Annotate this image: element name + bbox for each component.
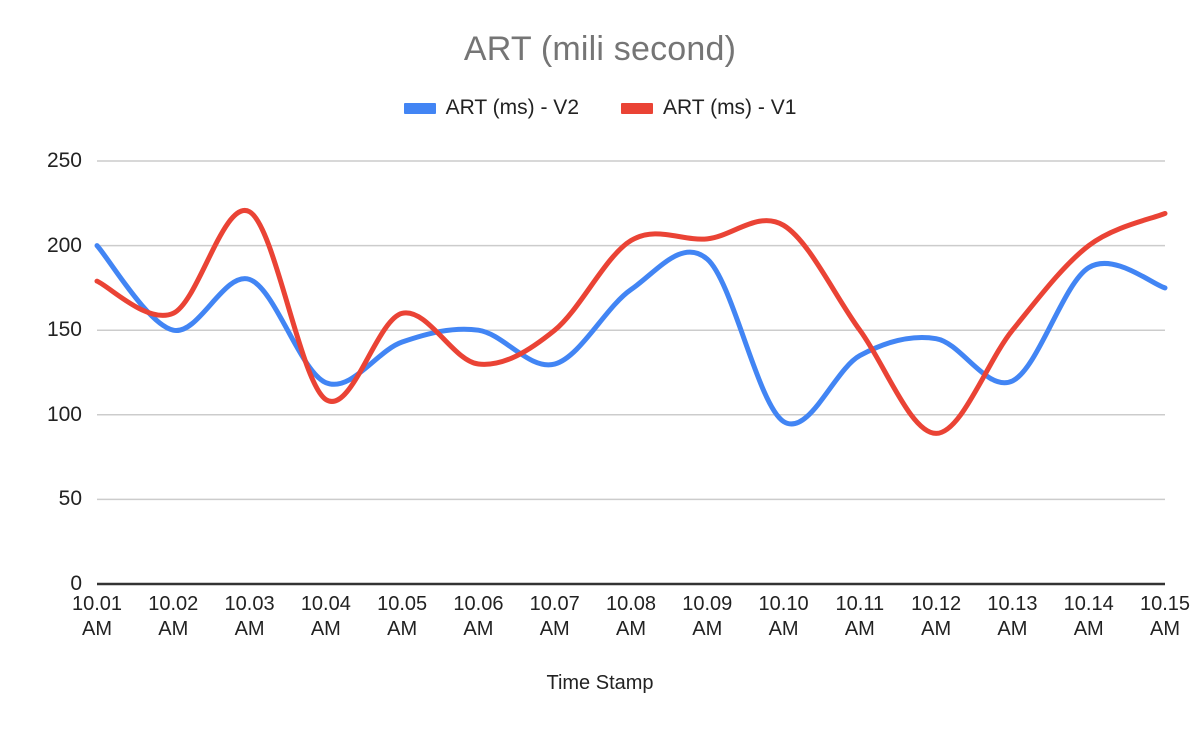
- chart-title: ART (mili second): [0, 30, 1200, 69]
- chart-container: ART (mili second) ART (ms) - V2ART (ms) …: [0, 0, 1200, 742]
- series-line-1[interactable]: [97, 246, 1165, 424]
- x-axis-tick-time: 10.09: [682, 593, 732, 615]
- chart-legend: ART (ms) - V2ART (ms) - V1: [0, 96, 1200, 120]
- x-axis-tick-time: 10.10: [759, 593, 809, 615]
- y-axis-tick-label: 250: [20, 149, 82, 173]
- y-axis-tick-label: 200: [20, 234, 82, 258]
- x-axis-tick-time: 10.03: [225, 593, 275, 615]
- legend-swatch-icon: [621, 103, 653, 114]
- legend-item-label: ART (ms) - V1: [663, 96, 796, 120]
- x-axis-tick-time: 10.14: [1064, 593, 1114, 615]
- x-axis-tick-time: 10.08: [606, 593, 656, 615]
- legend-item-1[interactable]: ART (ms) - V2: [404, 96, 579, 120]
- series-line-2[interactable]: [97, 210, 1165, 433]
- x-axis-tick-time: 10.02: [148, 593, 198, 615]
- y-axis-tick-label: 50: [20, 487, 82, 511]
- x-axis-tick-time: 10.04: [301, 593, 351, 615]
- x-axis-tick-time: 10.11: [836, 593, 885, 615]
- legend-item-label: ART (ms) - V2: [446, 96, 579, 120]
- plot-area: [97, 161, 1165, 584]
- x-axis-tick-time: 10.12: [911, 593, 961, 615]
- y-axis-tick-label: 150: [20, 318, 82, 342]
- legend-item-2[interactable]: ART (ms) - V1: [621, 96, 796, 120]
- x-axis-tick-meridiem: AM: [1110, 617, 1200, 642]
- x-axis-tick-time: 10.13: [987, 593, 1037, 615]
- x-axis-tick-time: 10.06: [453, 593, 503, 615]
- x-axis-tick-time: 10.05: [377, 593, 427, 615]
- x-axis-tick-time: 10.15: [1140, 593, 1190, 615]
- y-axis-tick-label: 100: [20, 403, 82, 427]
- legend-swatch-icon: [404, 103, 436, 114]
- x-axis-tick-time: 10.01: [72, 593, 122, 615]
- x-axis: 10.01AM10.02AM10.03AM10.04AM10.05AM10.06…: [97, 592, 1165, 652]
- x-axis-tick-time: 10.07: [530, 593, 580, 615]
- plot-svg: [97, 161, 1165, 584]
- y-axis: 050100150200250: [12, 161, 82, 584]
- x-axis-tick-label: 10.15AM: [1110, 592, 1200, 642]
- x-axis-title: Time Stamp: [0, 672, 1200, 695]
